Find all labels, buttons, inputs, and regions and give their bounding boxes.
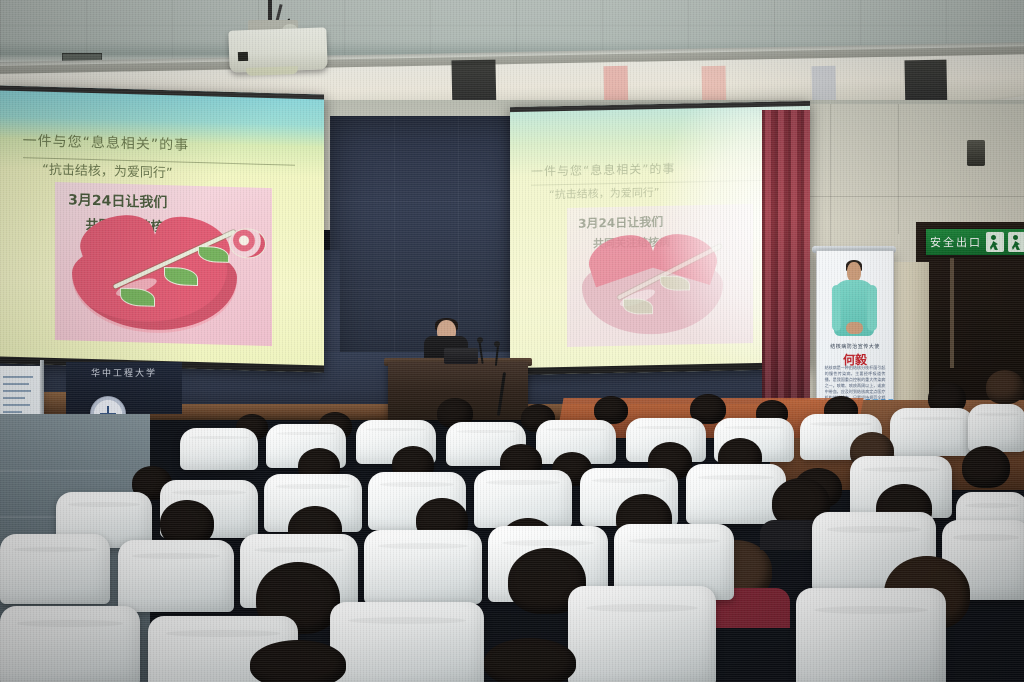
exit-sign: 安全出口 bbox=[926, 229, 1024, 255]
slide-title: 一件与您“息息相关”的事 bbox=[531, 157, 795, 180]
seat-with-cover bbox=[968, 404, 1024, 452]
wall-seam bbox=[898, 104, 899, 234]
aisle-step bbox=[0, 470, 120, 472]
seat-with-cover bbox=[568, 586, 716, 682]
banner-role-caption: 结核病防治宣传大使 bbox=[817, 343, 893, 350]
poster-line-1: 3月24日让我们 bbox=[578, 213, 663, 232]
portrait-hands bbox=[846, 322, 863, 334]
heart-graphic bbox=[582, 255, 723, 336]
left-projection-screen: 一件与您“息息相关”的事 “抗击结核，为爱同行” 3月24日让我们 共同关注结核… bbox=[0, 85, 324, 372]
seat-with-cover bbox=[796, 588, 946, 682]
seat-with-cover bbox=[0, 606, 140, 682]
exit-sign-label: 安全出口 bbox=[930, 234, 982, 250]
seat-with-cover bbox=[890, 408, 974, 456]
seat-with-cover bbox=[118, 540, 234, 612]
portrait-arm-left bbox=[832, 285, 841, 331]
wall-speaker bbox=[967, 140, 985, 166]
seat-with-cover bbox=[686, 464, 786, 524]
banner-portrait bbox=[831, 262, 878, 339]
projector-mount-rod bbox=[268, 0, 272, 22]
audience-head bbox=[962, 446, 1010, 488]
banner-text-lines bbox=[3, 376, 32, 418]
slide-title: 一件与您“息息相关”的事 bbox=[23, 131, 308, 159]
running-man-exit-icon bbox=[1008, 232, 1024, 252]
slide-poster-image: 3月24日让我们 共同关注结核病 bbox=[55, 182, 272, 347]
audience-head bbox=[986, 370, 1024, 404]
seat-with-cover bbox=[364, 530, 482, 604]
stage-curtain bbox=[762, 110, 810, 410]
microphone-head bbox=[494, 341, 500, 347]
audience-head bbox=[484, 638, 576, 682]
door-push-bar[interactable] bbox=[950, 258, 954, 368]
audience-head bbox=[250, 640, 346, 682]
university-name: 华中工程大学 bbox=[66, 366, 182, 379]
auditorium-photo: 一件与您“息息相关”的事 “抗击结核，为爱同行” 3月24日让我们 共同关注结核… bbox=[0, 0, 1024, 682]
microphone-head bbox=[477, 337, 483, 343]
portrait-arm-right bbox=[867, 285, 876, 331]
running-man-exit-icon bbox=[986, 232, 1004, 252]
laptop[interactable] bbox=[444, 348, 478, 364]
projector-port bbox=[238, 52, 248, 61]
slide-poster-image: 3月24日让我们 共同关注结核病 bbox=[567, 204, 753, 347]
poster-line-1: 3月24日让我们 bbox=[68, 190, 167, 213]
slide-left: 一件与您“息息相关”的事 “抗击结核，为爱同行” 3月24日让我们 共同关注结核… bbox=[0, 85, 324, 372]
portrait-head bbox=[847, 262, 861, 282]
seat-with-cover bbox=[180, 428, 258, 470]
seat-with-cover bbox=[0, 534, 110, 604]
rose-flower-icon bbox=[229, 228, 266, 260]
seat-with-cover bbox=[330, 602, 484, 682]
